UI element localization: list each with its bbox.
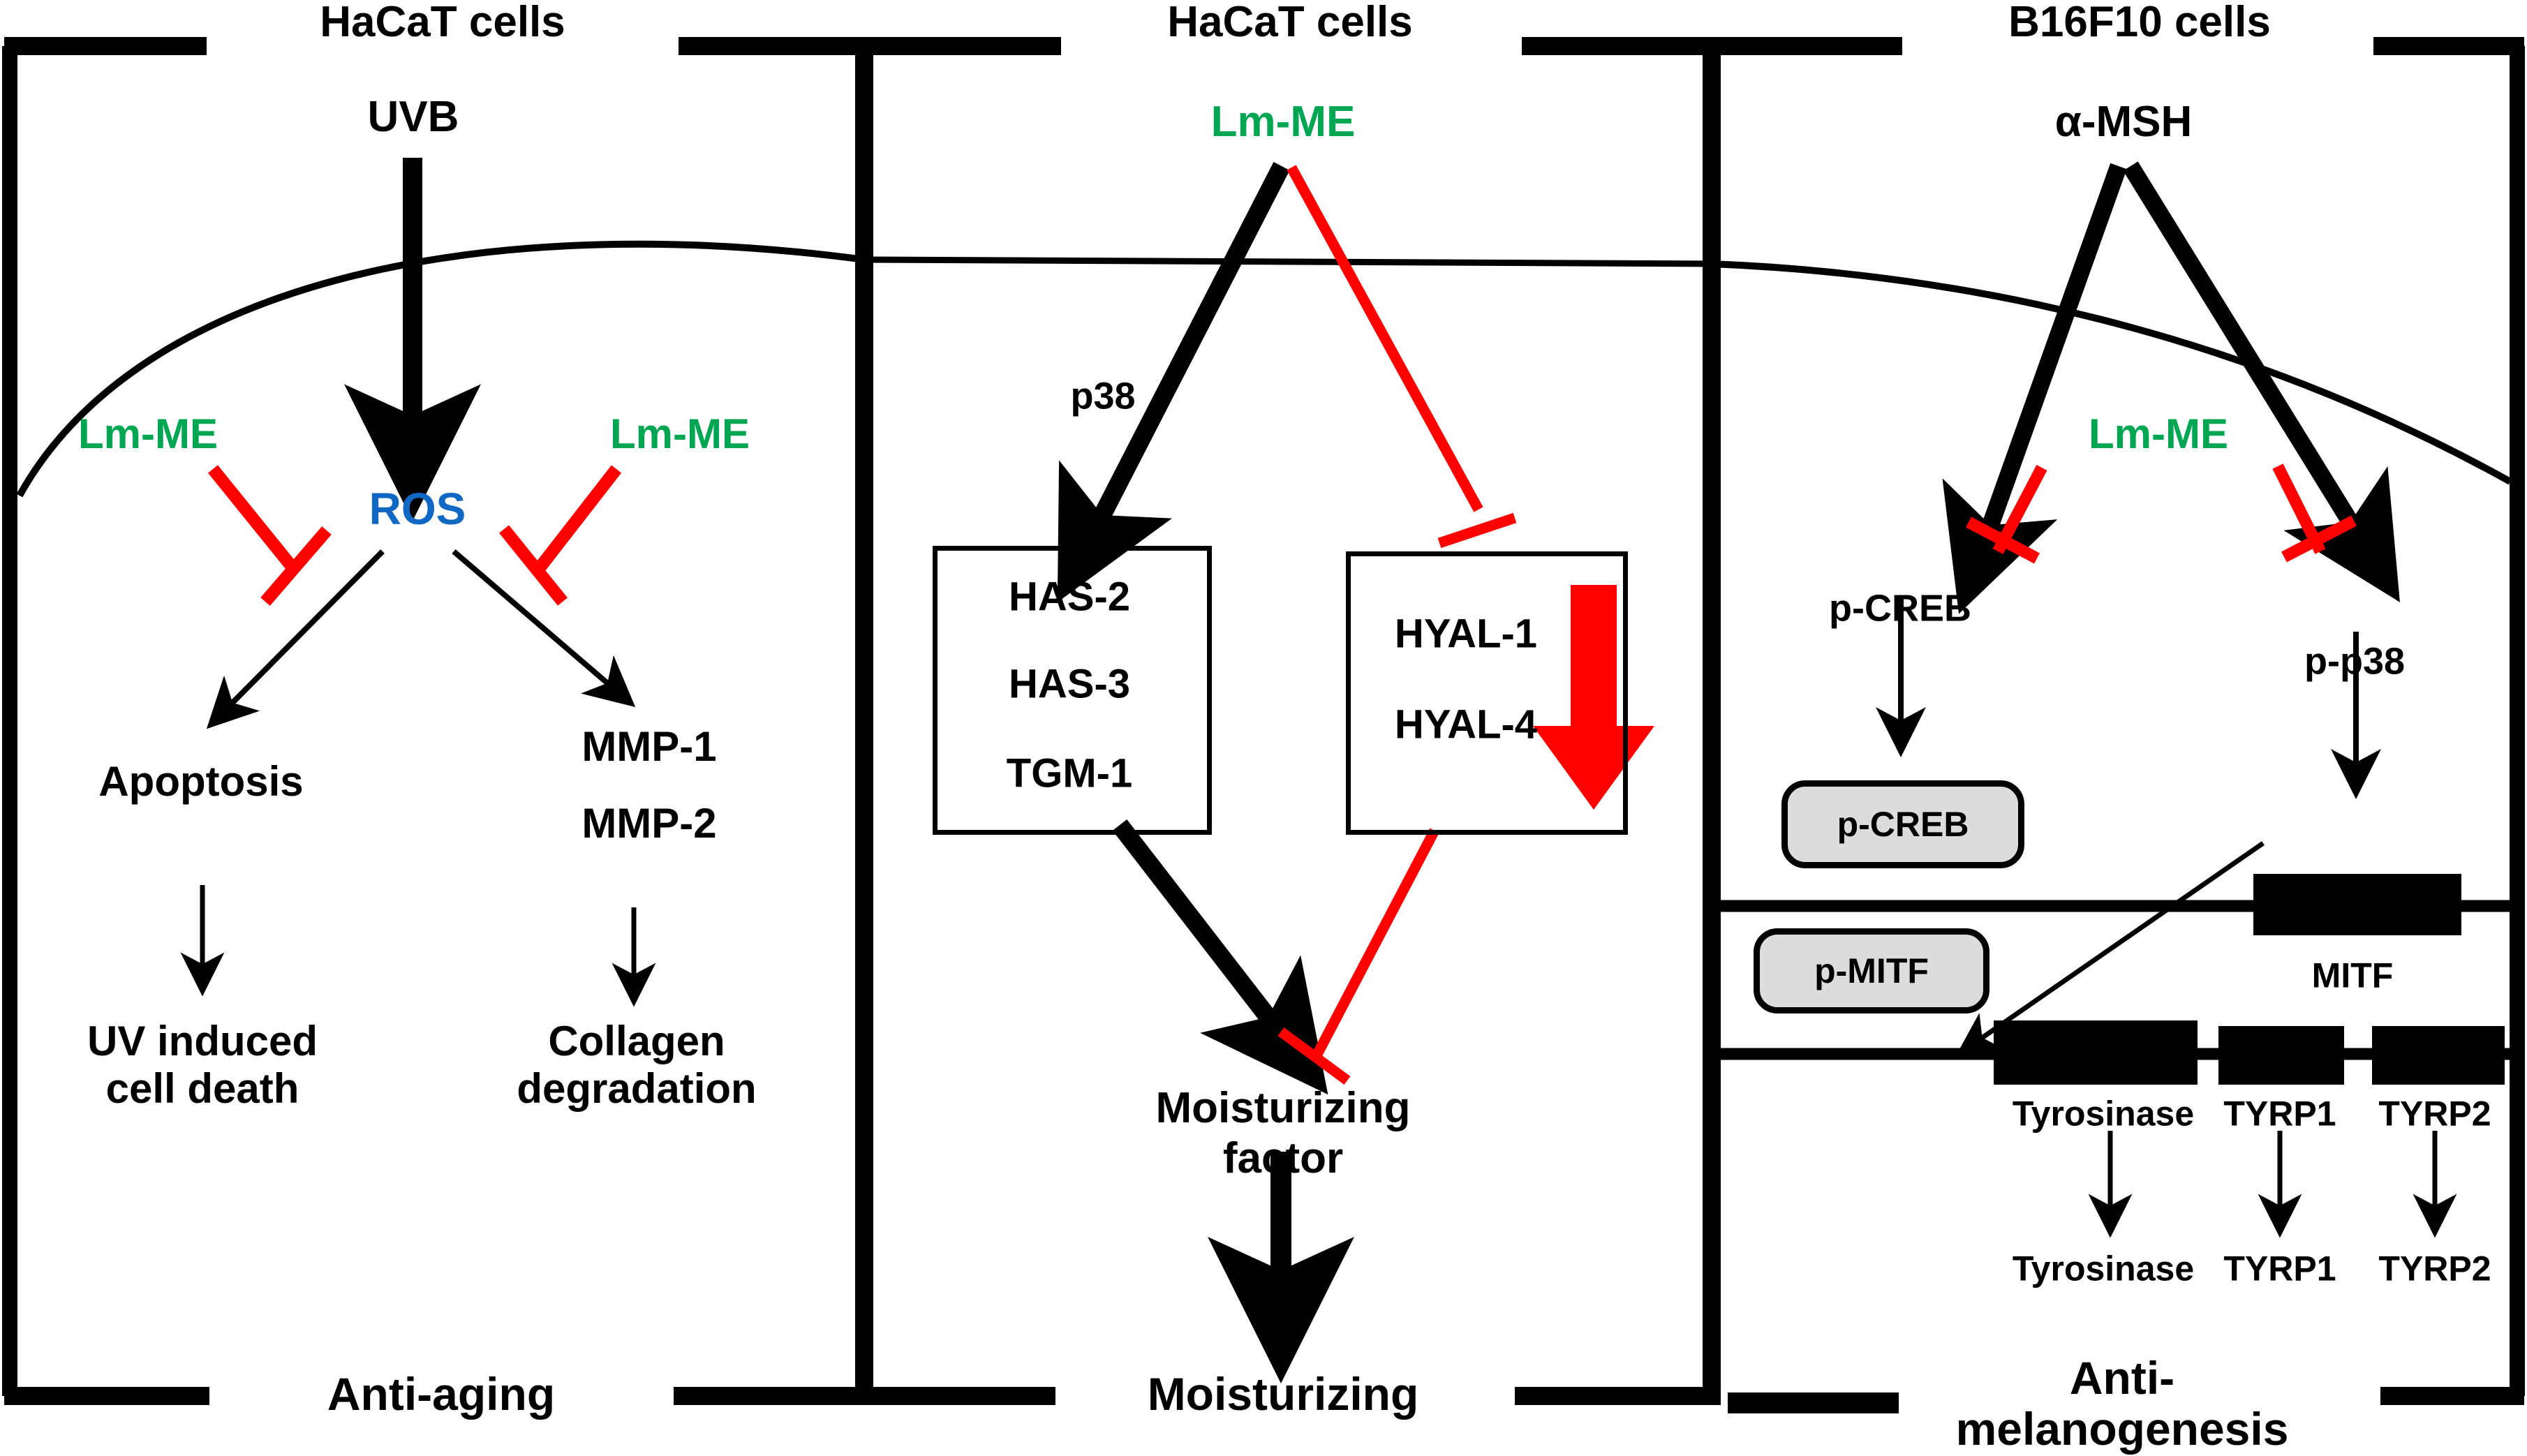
- panel-header-right: B16F10 cells: [2008, 0, 2271, 45]
- product-label-tyrp2: TYRP2: [2378, 1251, 2491, 1288]
- inhibitor-lmme-right: Lm-ME: [610, 412, 750, 456]
- panel-footer-right-line2: melanogenesis: [1956, 1405, 2289, 1454]
- gene-hyal4: HYAL-4: [1395, 703, 1537, 745]
- gene-tgm1: TGM-1: [1007, 752, 1132, 794]
- kinase-pcreb: p-CREB: [1829, 588, 1971, 628]
- outcome-uv-cell-death-line1: UV induced: [87, 1019, 318, 1064]
- arrow-ros-to-apoptosis: [216, 551, 383, 719]
- gene-label-mitf: MITF: [2312, 958, 2394, 995]
- gene-block-tyrosinase: [1994, 1020, 2198, 1085]
- inhibition-left-lmme: [213, 469, 327, 602]
- gene-has3: HAS-3: [1009, 662, 1130, 705]
- outcome-collagen-line1: Collagen: [548, 1019, 725, 1064]
- inhibitor-lmme-right-panel: Lm-ME: [2089, 412, 2228, 456]
- mediator-ros: ROS: [369, 486, 466, 533]
- pathway-figure: HaCaT cells HaCaT cells B16F10 cells Ant…: [0, 0, 2527, 1456]
- panel-footer-middle: Moisturizing: [1148, 1370, 1419, 1419]
- kinase-p38: p38: [1070, 376, 1135, 416]
- inhibition-right-lmme: [504, 469, 616, 602]
- arrow-lmme-to-has: [1089, 166, 1282, 541]
- product-label-tyrp1: TYRP1: [2223, 1251, 2336, 1288]
- node-mmp2: MMP-2: [581, 801, 716, 846]
- outcome-collagen-line2: degradation: [517, 1067, 756, 1111]
- arrow-msh-to-pcreb: [1981, 166, 2119, 551]
- inhibitor-lmme-left: Lm-ME: [78, 412, 218, 456]
- gene-block-tyrp2: [2372, 1026, 2505, 1085]
- panel-header-left: HaCaT cells: [320, 0, 565, 45]
- gene-block-mitf: [2253, 874, 2461, 935]
- gene-has2: HAS-2: [1009, 575, 1130, 618]
- pill-pcreb-label: p-CREB: [1837, 804, 1969, 845]
- gene-label-tyrosinase: Tyrosinase: [2013, 1096, 2194, 1133]
- frame-borders: [4, 46, 2524, 1403]
- arrow-msh-to-pp38: [2130, 166, 2365, 546]
- gene-label-tyrp2: TYRP2: [2378, 1096, 2491, 1133]
- box-downregulated-genes: [1346, 551, 1628, 835]
- node-mmp1: MMP-1: [581, 725, 716, 769]
- pill-pcreb: p-CREB: [1781, 780, 2024, 868]
- target-moisturizing-factor-line1: Moisturizing: [1155, 1085, 1410, 1131]
- kinase-pp38: p-p38: [2304, 641, 2405, 681]
- arrow-has-to-moisturizing-factor: [1120, 825, 1286, 1040]
- panel-footer-right-line1: Anti-: [2070, 1354, 2174, 1403]
- membrane-arc-left: [20, 244, 864, 496]
- outcome-uv-cell-death-line2: cell death: [106, 1067, 299, 1111]
- arrow-mitf-to-pmitf: [1966, 843, 2263, 1049]
- gene-label-tyrp1: TYRP1: [2223, 1096, 2336, 1133]
- stimulus-lmme-middle: Lm-ME: [1211, 99, 1356, 145]
- pill-pmitf-label: p-MITF: [1814, 951, 1929, 991]
- membrane-line-middle: [866, 260, 1712, 264]
- panel-header-middle: HaCaT cells: [1167, 0, 1413, 45]
- node-apoptosis: Apoptosis: [98, 759, 303, 804]
- stimulus-alpha-msh: α-MSH: [2055, 99, 2193, 145]
- target-moisturizing-factor-line2: factor: [1223, 1136, 1343, 1182]
- stimulus-uvb: UVB: [368, 94, 459, 140]
- inhibition-lmme-hyal: [1291, 168, 1515, 543]
- gene-block-tyrp1: [2218, 1026, 2344, 1085]
- inhibition-hyal-moisturizing-factor: [1281, 831, 1435, 1080]
- panel-footer-left: Anti-aging: [327, 1370, 555, 1419]
- pathway-svg-layer: [0, 0, 2527, 1456]
- pill-pmitf: p-MITF: [1754, 928, 1989, 1013]
- gene-hyal1: HYAL-1: [1395, 612, 1537, 655]
- product-label-tyrosinase: Tyrosinase: [2013, 1251, 2194, 1288]
